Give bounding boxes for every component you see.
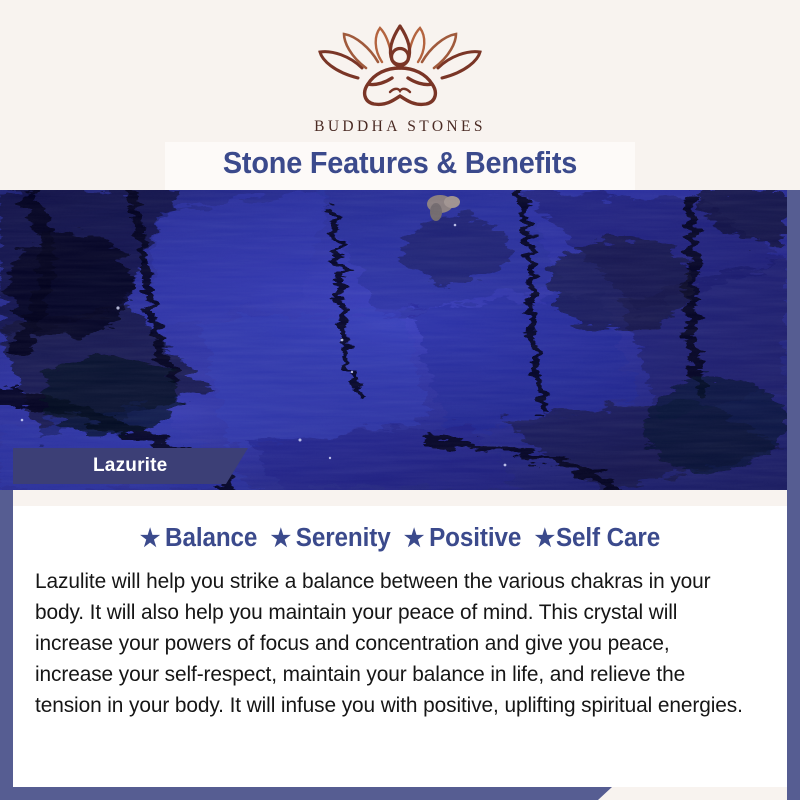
star-icon: ★ — [535, 527, 555, 551]
stone-name-label: Lazurite — [13, 455, 167, 477]
benefit-item-positive: ★ Positive — [404, 524, 521, 553]
benefit-label: Balance — [165, 524, 257, 553]
brand-logo: BUDDHA STONES — [0, 22, 800, 136]
benefit-item-self-care: ★ Self Care — [535, 524, 661, 553]
star-icon: ★ — [404, 527, 424, 551]
benefit-label: Self Care — [556, 524, 660, 553]
star-icon: ★ — [140, 527, 160, 551]
benefit-item-serenity: ★ Serenity — [271, 524, 391, 553]
stone-photo — [0, 190, 787, 490]
benefit-item-balance: ★ Balance — [140, 524, 257, 553]
benefits-row: ★ Balance ★ Serenity ★ Positive ★ Self C… — [53, 524, 747, 553]
lotus-meditation-icon — [306, 22, 494, 114]
benefit-label: Serenity — [296, 524, 391, 553]
star-icon: ★ — [271, 527, 291, 551]
content-panel: ★ Balance ★ Serenity ★ Positive ★ Self C… — [13, 506, 787, 787]
poster-root: BUDDHA STONES Stone Features & Benefits — [0, 0, 800, 800]
brand-name: BUDDHA STONES — [0, 118, 800, 136]
stone-name-banner: Lazurite — [13, 448, 248, 484]
stone-texture-graphic — [0, 190, 787, 490]
stone-description: Lazulite will help you strike a balance … — [35, 566, 743, 721]
panel-cream-strip — [13, 490, 787, 506]
page-title: Stone Features & Benefits — [28, 145, 772, 181]
benefit-label: Positive — [429, 524, 521, 553]
frame-edge-bottom — [0, 787, 612, 800]
